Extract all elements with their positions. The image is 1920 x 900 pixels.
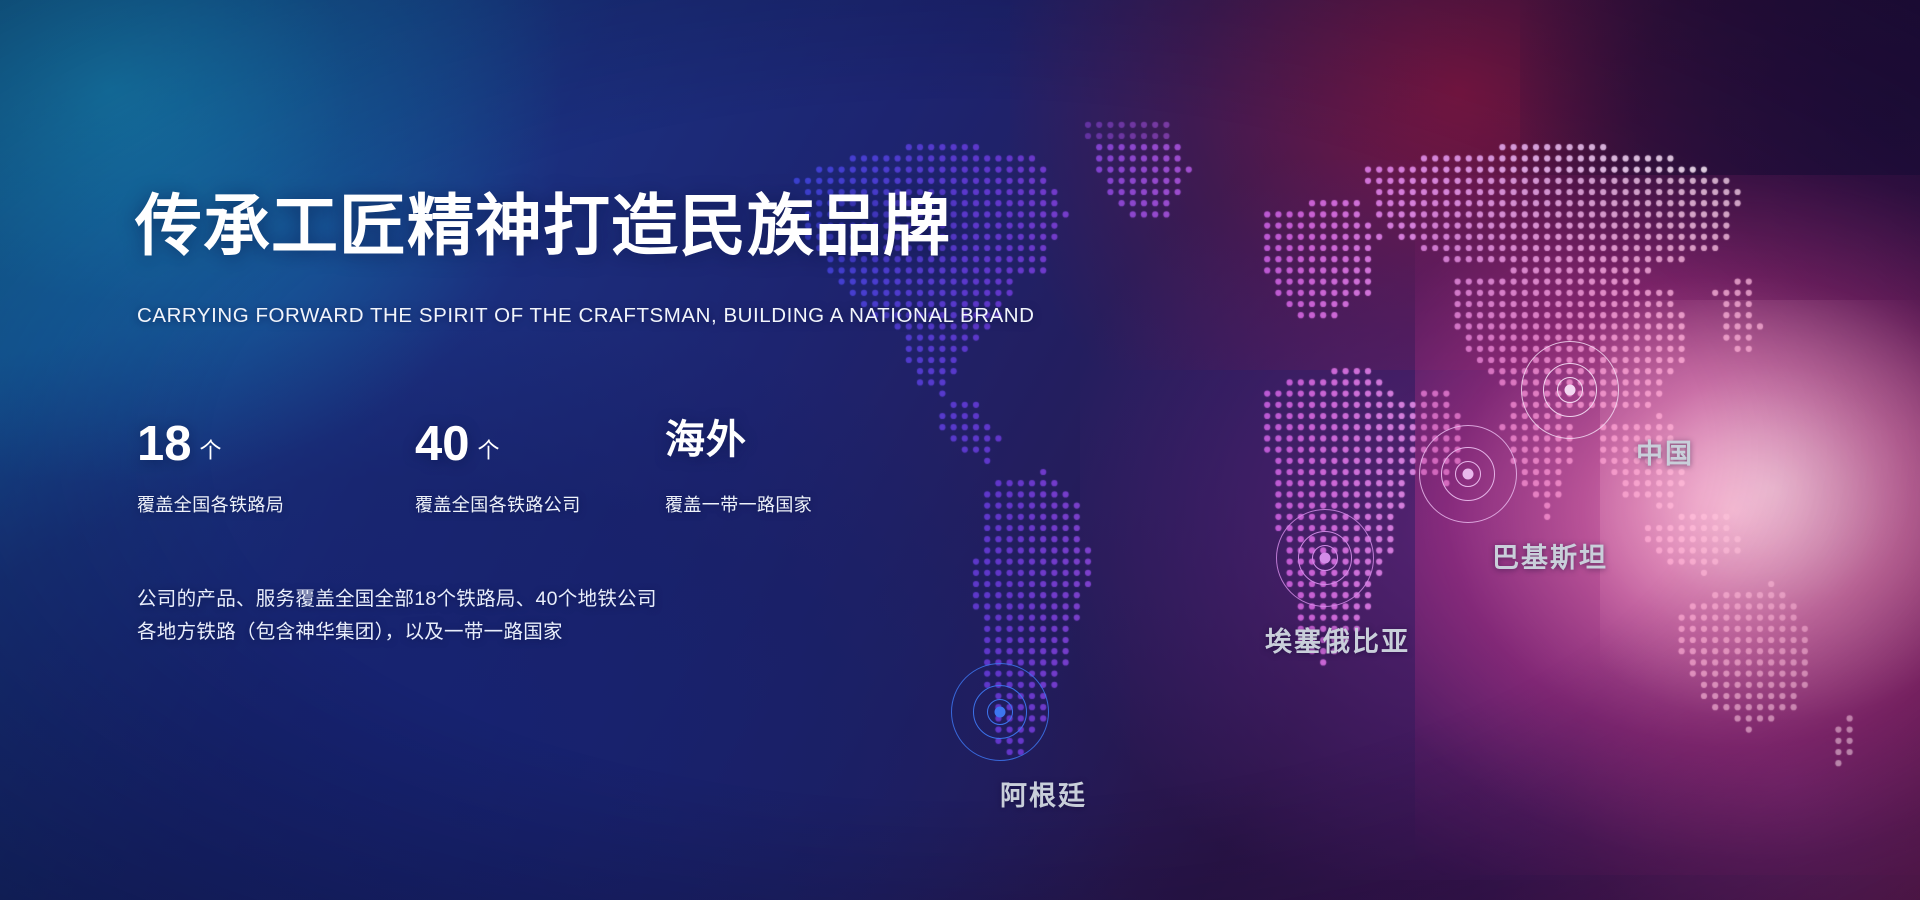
page-title: 传承工匠精神打造民族品牌 [135,193,951,260]
stat-value-row: 40个 [415,420,665,478]
stat-number: 40 [415,420,470,469]
banner-stage: 中国巴基斯坦埃塞俄比亚阿根廷 传承工匠精神打造民族品牌 CARRYING FOR… [0,0,1920,900]
stat-unit: 个 [478,433,500,465]
stat-item: 40个覆盖全国各铁路公司 [415,420,665,517]
description-text: 公司的产品、服务覆盖全国全部18个铁路局、40个地铁公司各地方铁路（包含神华集团… [137,583,657,649]
content-block: 传承工匠精神打造民族品牌 CARRYING FORWARD THE SPIRIT… [135,0,1035,900]
stats-row: 18个覆盖全国各铁路局40个覆盖全国各铁路公司海外覆盖一带一路国家 [137,420,915,517]
description-line: 各地方铁路（包含神华集团），以及一带一路国家 [137,616,657,649]
stat-value-row: 海外 [665,420,915,478]
stat-value-row: 18个 [137,420,415,478]
stat-item: 海外覆盖一带一路国家 [665,420,915,517]
stat-number: 18 [137,420,192,469]
stat-description: 覆盖全国各铁路公司 [415,491,665,517]
stat-description: 覆盖一带一路国家 [665,491,915,517]
description-line: 公司的产品、服务覆盖全国全部18个铁路局、40个地铁公司 [137,583,657,616]
stat-description: 覆盖全国各铁路局 [137,491,415,517]
stat-item: 18个覆盖全国各铁路局 [137,420,415,517]
stat-unit: 个 [200,433,222,465]
stat-number: 海外 [665,420,747,460]
page-subtitle: CARRYING FORWARD THE SPIRIT OF THE CRAFT… [137,306,1035,327]
